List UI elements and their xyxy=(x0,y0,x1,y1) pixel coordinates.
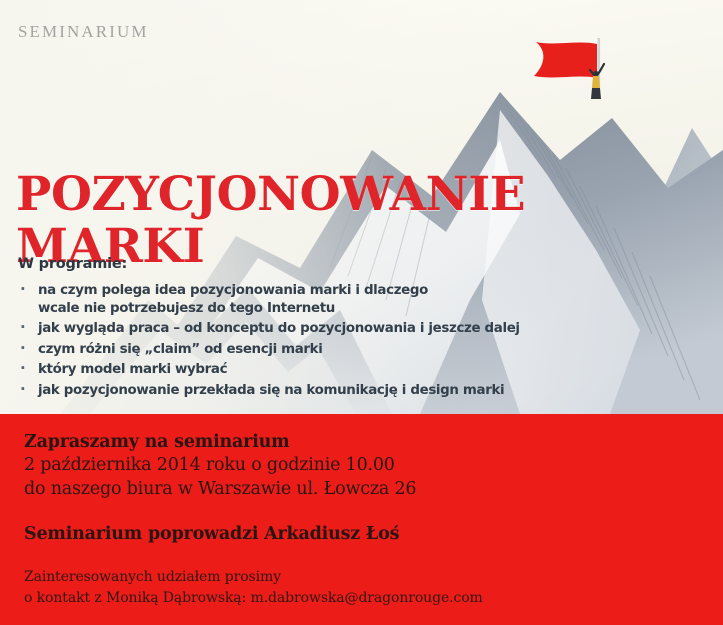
invitation-band: Zapraszamy na seminarium 2 października … xyxy=(0,414,723,625)
list-item: jak wygląda praca – od konceptu do pozyc… xyxy=(18,320,578,338)
programme-heading: W programie: xyxy=(18,256,578,272)
hero-photo-area: SEMINARIUM POZYCJONOWANIE MARKI W progra… xyxy=(0,0,723,414)
contact-block: Zainteresowanych udziałem prosimy o kont… xyxy=(24,567,483,609)
red-flag-icon xyxy=(534,42,597,78)
poster-canvas: SEMINARIUM POZYCJONOWANIE MARKI W progra… xyxy=(0,0,723,625)
headline-line-1: POZYCJONOWANIE xyxy=(16,167,525,222)
invitation-place: do naszego biura w Warszawie ul. Łowcza … xyxy=(24,478,416,502)
list-item: na czym polega idea pozycjonowania marki… xyxy=(18,282,578,317)
contact-line-2[interactable]: o kontakt z Moniką Dąbrowską: m.dabrowsk… xyxy=(24,588,483,609)
contact-line-1: Zainteresowanych udziałem prosimy xyxy=(24,567,483,588)
speaker-line: Seminarium poprowadzi Arkadiusz Łoś xyxy=(24,524,399,544)
list-item: jak pozycjonowanie przekłada się na komu… xyxy=(18,382,578,400)
invitation-heading: Zapraszamy na seminarium xyxy=(24,431,416,454)
programme-bullet-list: na czym polega idea pozycjonowania marki… xyxy=(18,282,578,399)
invitation-date: 2 października 2014 roku o godzinie 10.0… xyxy=(24,454,416,478)
invitation-details: Zapraszamy na seminarium 2 października … xyxy=(24,431,416,501)
list-item: czym różni się „claim” od esencji marki xyxy=(18,341,578,359)
programme-block: W programie: na czym polega idea pozycjo… xyxy=(18,256,578,402)
eyebrow-label: SEMINARIUM xyxy=(18,22,149,42)
list-item: który model marki wybrać xyxy=(18,361,578,379)
